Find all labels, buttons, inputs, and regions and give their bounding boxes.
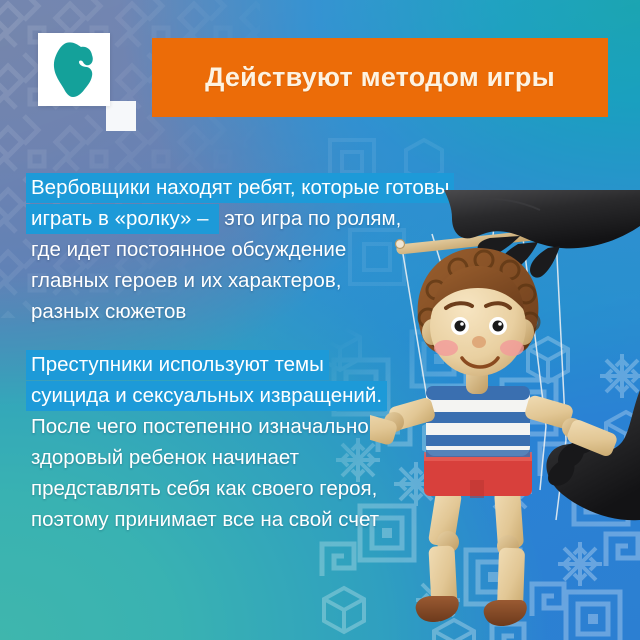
region-map-icon [48,41,100,99]
title-banner: Действуют методом игры [152,38,608,117]
blue-white-striped-shirt [426,386,530,457]
logo[interactable] [38,33,128,125]
puppet-legs [416,488,527,626]
wooden-puppet-boy [370,248,619,626]
logo-card [38,33,110,106]
marionette-illustration [370,190,640,640]
poster: Действуют методом игры Вербовщики находя… [0,0,640,640]
brown-shoe-left [416,596,459,622]
page-title: Действуют методом игры [205,62,555,93]
brown-shoe-right [484,600,527,626]
logo-accent-square [106,101,136,131]
